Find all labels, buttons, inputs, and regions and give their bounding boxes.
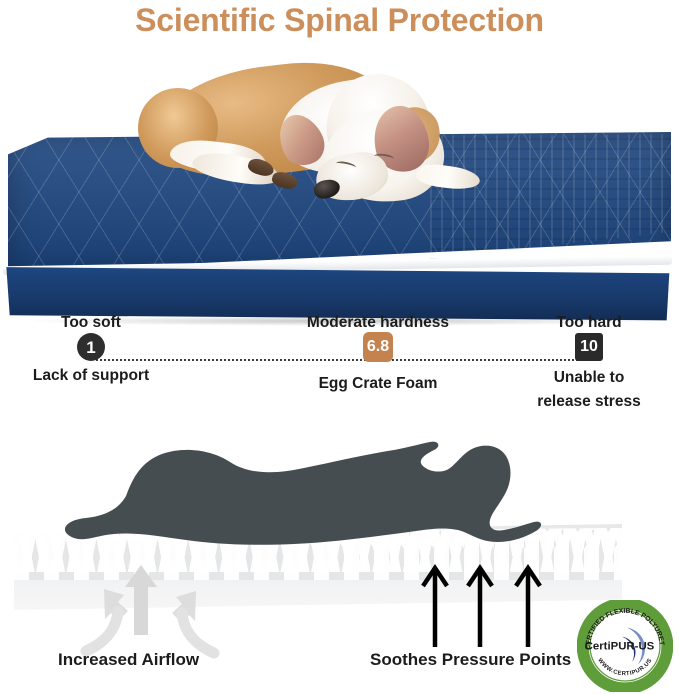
dog-paw-lower (270, 170, 299, 192)
badge-center-text: CertiPUR-US (585, 641, 655, 653)
scale-marker-top-label: Too hard (515, 314, 663, 331)
scale-value-chip-10: 10 (575, 333, 603, 361)
scale-value-chip-1: 1 (77, 333, 105, 361)
dog-photo-subject (130, 50, 530, 235)
scale-marker-moderate: Moderate hardness 6.8 Egg Crate Foam (283, 314, 473, 393)
scale-chip-row: 10 (515, 331, 663, 363)
sleeping-dog-silhouette (38, 432, 588, 552)
airflow-caption: Increased Airflow (58, 650, 199, 670)
pressure-caption: Soothes Pressure Points (370, 650, 571, 670)
scale-marker-bottom-label-line2: release stress (515, 393, 663, 411)
hardness-scale: Too soft 1 Lack of support Moderate hard… (0, 312, 679, 420)
hero-product-photo (0, 48, 679, 298)
page-title: Scientific Spinal Protection (0, 2, 679, 39)
scale-marker-top-label: Too soft (8, 314, 174, 331)
product-infographic: Scientific Spinal Protection (0, 0, 679, 694)
scale-marker-top-label: Moderate hardness (283, 314, 473, 331)
scale-marker-bottom-label: Egg Crate Foam (283, 375, 473, 393)
scale-chip-row: 6.8 (283, 331, 473, 363)
airflow-arrows (78, 559, 223, 659)
scale-marker-too-hard: Too hard 10 Unable to release stress (515, 314, 663, 411)
certipur-us-badge: CONTAINS CERTIFIED FLEXIBLE POLYURETHANE… (577, 600, 673, 692)
pressure-point-arrows (420, 559, 550, 649)
scale-value-chip-68: 6.8 (363, 332, 393, 362)
scale-chip-row: 1 (8, 331, 174, 363)
scale-marker-bottom-label: Lack of support (8, 367, 174, 385)
scale-marker-too-soft: Too soft 1 Lack of support (8, 314, 174, 385)
scale-marker-bottom-label-line1: Unable to (515, 369, 663, 387)
